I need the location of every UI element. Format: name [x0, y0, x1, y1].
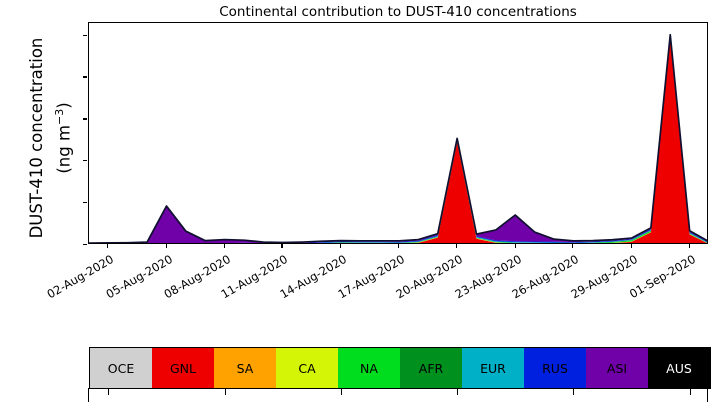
- area-series-aus: [89, 35, 708, 243]
- y-tick-mark: [83, 35, 87, 36]
- y-tick-mark: [83, 118, 87, 119]
- legend-item-label: SA: [237, 361, 254, 376]
- x-tick-mark: [281, 244, 282, 248]
- x-tick-mark: [515, 244, 516, 248]
- legend-item-asi[interactable]: ASI: [586, 348, 648, 388]
- legend-item-rus[interactable]: RUS: [524, 348, 586, 388]
- x-tick-mark: [340, 244, 341, 248]
- figure-canvas: Continental contribution to DUST-410 con…: [0, 0, 721, 402]
- lower-panel-tick: [690, 389, 691, 395]
- x-tick-mark: [107, 244, 108, 248]
- legend-item-label: GNL: [170, 361, 196, 376]
- lower-panel-tick: [108, 389, 109, 395]
- lower-panel-tick: [225, 389, 226, 395]
- y-tick-mark: [83, 202, 87, 203]
- area-series-sa: [89, 40, 708, 244]
- y-axis-label-line1: DUST-410 concentration: [27, 18, 47, 258]
- y-tick-mark: [83, 244, 87, 245]
- legend-item-label: OCE: [108, 361, 134, 376]
- area-series-na: [89, 38, 708, 244]
- chart-title: Continental contribution to DUST-410 con…: [88, 4, 708, 20]
- legend-item-label: EUR: [480, 361, 506, 376]
- area-series-eur: [89, 38, 708, 244]
- legend-item-label: AFR: [419, 361, 443, 376]
- area-series-ca: [89, 39, 708, 244]
- y-units-prefix: (ng m: [55, 125, 74, 174]
- legend-item-eur[interactable]: EUR: [462, 348, 524, 388]
- lower-panel-tick: [457, 389, 458, 395]
- y-axis-label-line2: (ng m−3): [53, 18, 73, 258]
- legend-strip: OCEGNLSACANAAFREURRUSASIAUS: [89, 347, 711, 389]
- legend-item-na[interactable]: NA: [338, 348, 400, 388]
- plot-area: [88, 22, 708, 244]
- area-series-afr: [89, 38, 708, 244]
- x-tick-mark: [631, 244, 632, 248]
- y-units-exponent: −3: [53, 109, 66, 125]
- x-tick-mark: [166, 244, 167, 248]
- legend-item-oce[interactable]: OCE: [90, 348, 152, 388]
- y-tick-mark: [83, 76, 87, 77]
- legend-item-aus[interactable]: AUS: [648, 348, 710, 388]
- y-units-suffix: ): [55, 102, 74, 108]
- legend-item-label: NA: [360, 361, 378, 376]
- stacked-area-plot: [89, 23, 708, 244]
- total-outline: [89, 35, 708, 243]
- area-series-asi: [89, 35, 708, 244]
- area-series-rus: [89, 36, 708, 244]
- x-tick-mark: [224, 244, 225, 248]
- legend-item-ca[interactable]: CA: [276, 348, 338, 388]
- x-tick-mark: [572, 244, 573, 248]
- y-axis-label-text: DUST-410 concentration: [27, 18, 46, 258]
- legend-item-sa[interactable]: SA: [214, 348, 276, 388]
- legend-item-label: AUS: [666, 361, 692, 376]
- legend-item-afr[interactable]: AFR: [400, 348, 462, 388]
- y-tick-mark: [83, 160, 87, 161]
- x-tick-mark: [456, 244, 457, 248]
- x-tick-mark: [398, 244, 399, 248]
- lower-panel-tick: [573, 389, 574, 395]
- lower-panel-tick: [341, 389, 342, 395]
- legend-item-gnl[interactable]: GNL: [152, 348, 214, 388]
- area-series-gnl: [89, 40, 708, 244]
- legend-item-label: ASI: [607, 361, 627, 376]
- y-axis-units-text: (ng m−3): [53, 18, 74, 258]
- x-tick-mark: [689, 244, 690, 248]
- legend-item-label: CA: [298, 361, 315, 376]
- legend-item-label: RUS: [542, 361, 568, 376]
- lower-panel-partial: [88, 388, 708, 402]
